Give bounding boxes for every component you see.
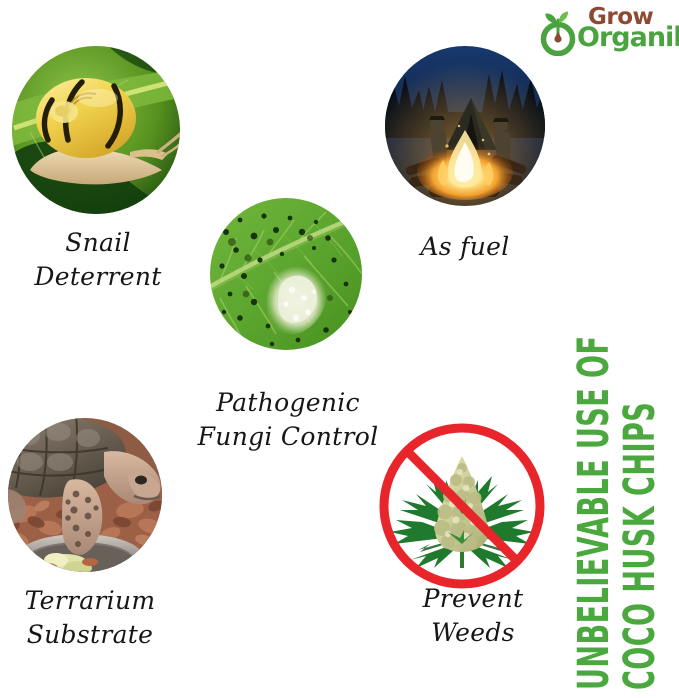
headline-line-2: COCO HUSK CHIPS bbox=[620, 402, 663, 690]
feature-image-snail bbox=[12, 46, 180, 214]
poster-canvas: Grow Organiks bbox=[0, 0, 679, 698]
feature-caption-snail: Snail Deterrent bbox=[0, 226, 196, 294]
feature-image-weeds bbox=[374, 418, 550, 594]
feature-image-terrarium bbox=[8, 418, 162, 572]
feature-image-fuel bbox=[385, 46, 545, 206]
feature-image-fungi bbox=[210, 198, 362, 350]
feature-caption-terrarium: Terrarium Substrate bbox=[0, 584, 180, 652]
headline-line-1: UNBELIEVABLE USE OF bbox=[574, 336, 617, 690]
feature-caption-fungi: Pathogenic Fungi Control bbox=[178, 386, 398, 454]
feature-caption-weeds: Prevent Weeds bbox=[378, 582, 568, 650]
feature-caption-fuel: As fuel bbox=[370, 230, 560, 264]
vertical-headline: UNBELIEVABLE USE OF COCO HUSK CHIPS bbox=[572, 0, 679, 698]
